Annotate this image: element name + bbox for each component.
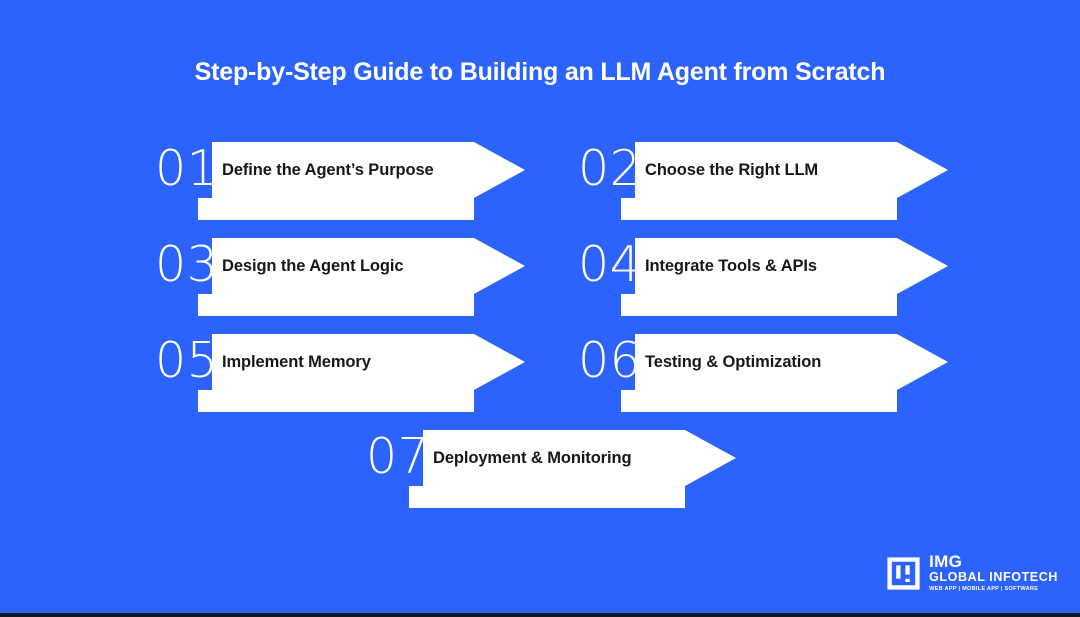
step-label: Choose the Right LLM: [645, 142, 818, 198]
infographic-canvas: Step-by-Step Guide to Building an LLM Ag…: [0, 0, 1080, 617]
step-label: Deployment & Monitoring: [433, 430, 631, 486]
step-banner: Deployment & Monitoring: [409, 430, 736, 508]
step-banner: Testing & Optimization: [621, 334, 948, 412]
brand-logo: IMG GLOBAL INFOTECH WEB APP | MOBILE APP…: [887, 554, 1058, 593]
step-banner: Implement Memory: [198, 334, 525, 412]
step-item: 01Define the Agent’s Purpose: [155, 142, 525, 220]
step-banner: Choose the Right LLM: [621, 142, 948, 220]
step-list: 01Define the Agent’s Purpose02Choose the…: [0, 0, 1080, 617]
step-item: 03Design the Agent Logic: [155, 238, 525, 316]
brand-tagline: WEB APP | MOBILE APP | SOFTWARE: [929, 585, 1058, 593]
step-item: 02Choose the Right LLM: [578, 142, 948, 220]
step-item: 07Deployment & Monitoring: [366, 430, 736, 508]
brand-name: IMG: [929, 554, 1058, 570]
img-monogram-icon: [887, 557, 920, 590]
brand-company: GLOBAL INFOTECH: [929, 571, 1058, 584]
brand-logo-text: IMG GLOBAL INFOTECH WEB APP | MOBILE APP…: [929, 554, 1058, 593]
step-banner: Design the Agent Logic: [198, 238, 525, 316]
step-item: 04Integrate Tools & APIs: [578, 238, 948, 316]
step-item: 06Testing & Optimization: [578, 334, 948, 412]
bottom-strip: [0, 613, 1080, 617]
step-label: Integrate Tools & APIs: [645, 238, 817, 294]
step-label: Testing & Optimization: [645, 334, 821, 390]
step-label: Define the Agent’s Purpose: [222, 142, 434, 198]
step-banner: Define the Agent’s Purpose: [198, 142, 525, 220]
step-label: Design the Agent Logic: [222, 238, 403, 294]
step-label: Implement Memory: [222, 334, 371, 390]
step-item: 05Implement Memory: [155, 334, 525, 412]
step-banner: Integrate Tools & APIs: [621, 238, 948, 316]
